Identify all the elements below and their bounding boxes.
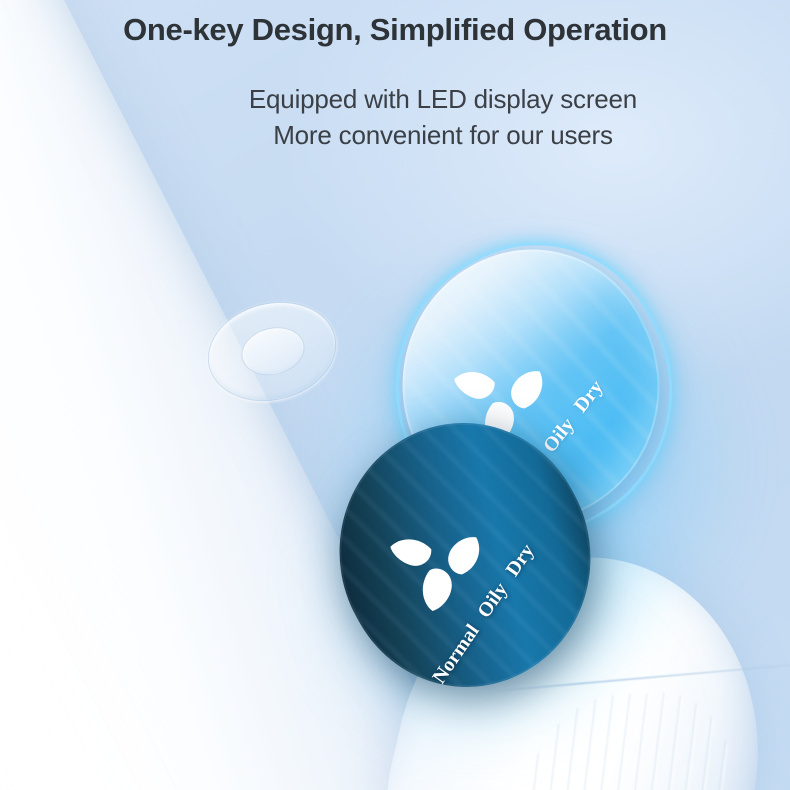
headline: One-key Design, Simplified Operation — [0, 12, 790, 48]
subtitle-line-1: Equipped with LED display screen — [0, 84, 790, 115]
subtitle-line-2: More convenient for our users — [0, 120, 790, 151]
one-key-power-button-inner-ring — [236, 320, 309, 381]
product-marketing-banner: Normal Oily Dry Normal Oily Dry One-key … — [0, 0, 790, 790]
